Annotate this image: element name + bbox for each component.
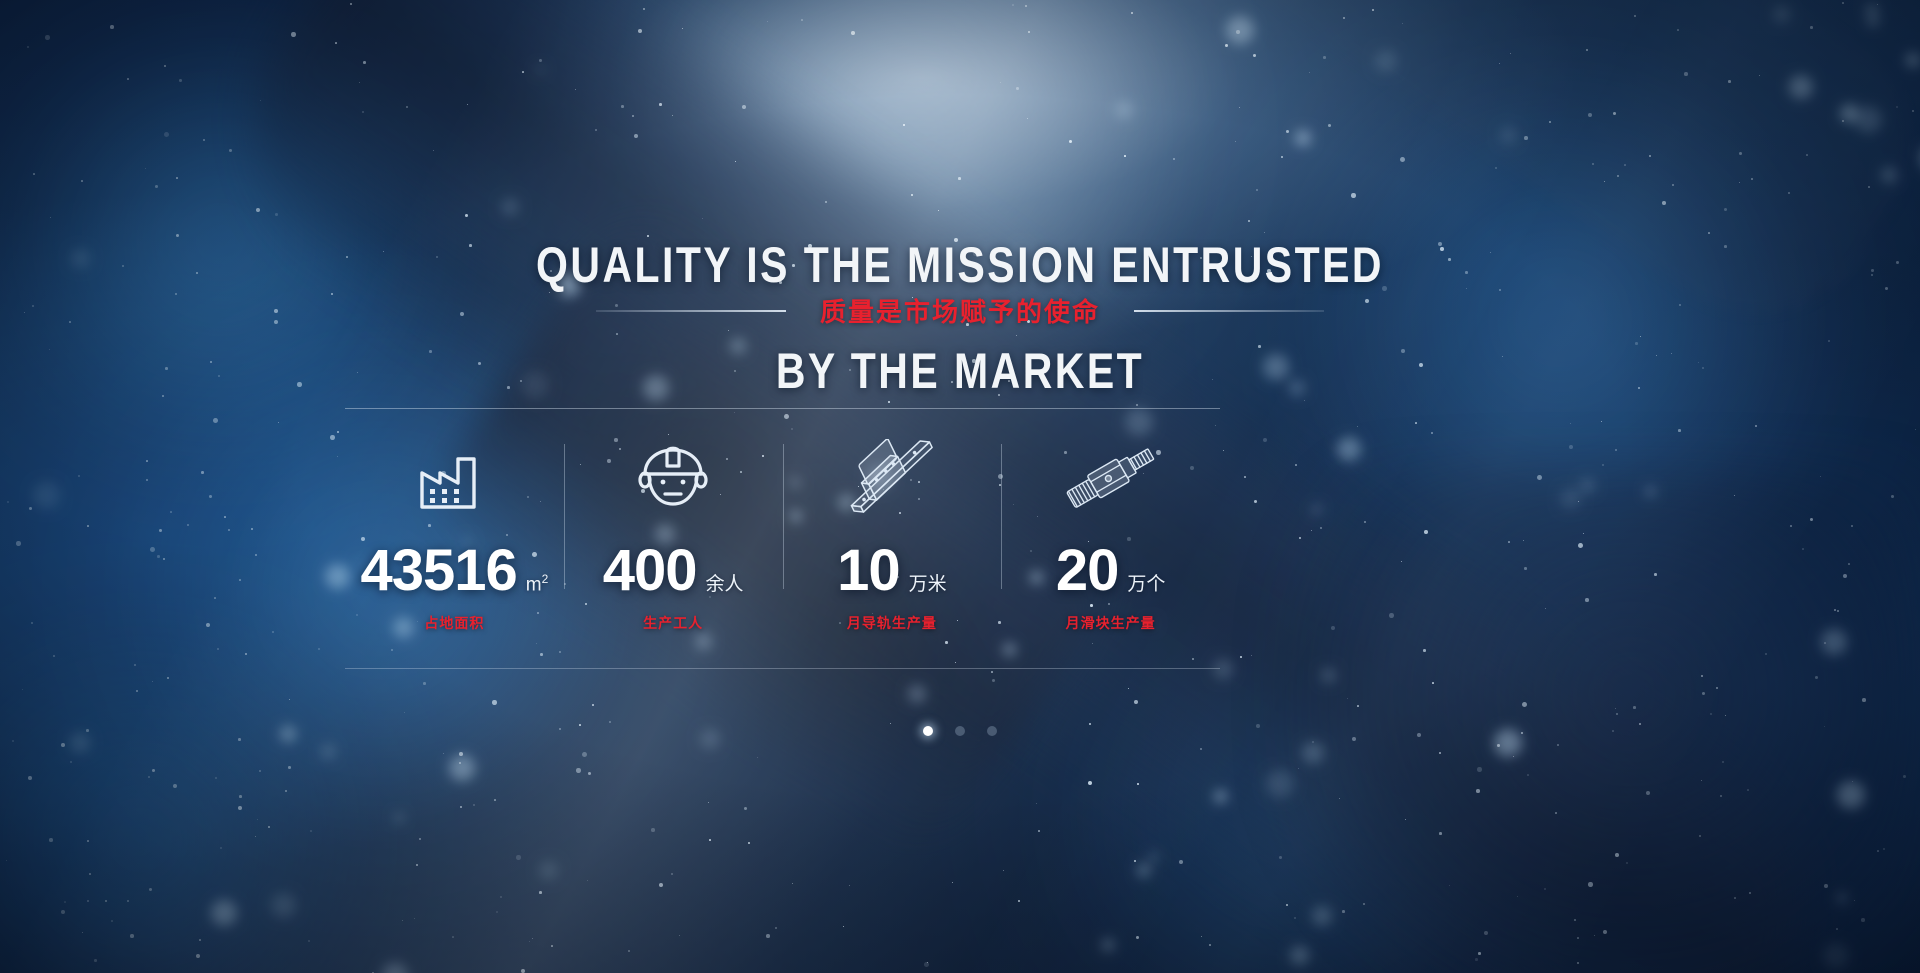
- subtitle-rule-right: [1134, 310, 1324, 312]
- worker-helmet-icon: [637, 438, 709, 516]
- stat-value: 400: [603, 542, 697, 600]
- headline-line-2: BY THE MARKET: [173, 345, 1747, 398]
- subtitle-row: 质量是市场赋予的使命: [0, 292, 1920, 329]
- stat-label: 生产工人: [643, 613, 703, 633]
- stats-row: 43516 m2 占地面积 400: [345, 430, 1220, 660]
- stat-value-group: 10 万米: [837, 542, 947, 600]
- stat-label: 月导轨生产量: [847, 613, 937, 633]
- stat-item-workers: 400 余人 生产工人: [564, 430, 783, 660]
- stat-value-group: 20 万个: [1056, 542, 1166, 600]
- stat-value: 10: [837, 542, 900, 600]
- stat-unit: m2: [526, 572, 549, 596]
- stat-item-guide-rail: 10 万米 月导轨生产量: [783, 430, 1002, 660]
- ball-screw-slider-icon: [1057, 438, 1165, 516]
- stat-value: 43516: [360, 542, 516, 600]
- subtitle-text: 质量是市场赋予的使命: [820, 292, 1100, 329]
- stats-divider-bottom: [345, 668, 1220, 669]
- stat-item-slider-block: 20 万个 月滑块生产量: [1001, 430, 1220, 660]
- carousel-dot-1[interactable]: [923, 726, 933, 736]
- stat-item-floor-area: 43516 m2 占地面积: [345, 430, 564, 660]
- stat-unit: 万个: [1127, 569, 1165, 596]
- stats-divider-top: [345, 408, 1220, 409]
- stat-unit: 余人: [706, 569, 744, 596]
- linear-guide-rail-icon: [837, 438, 947, 516]
- stat-value-group: 43516 m2: [360, 542, 548, 600]
- carousel-dot-3[interactable]: [987, 726, 997, 736]
- stat-value: 20: [1056, 542, 1119, 600]
- stat-label: 占地面积: [424, 613, 484, 633]
- carousel-pagination[interactable]: [0, 726, 1920, 736]
- stat-value-group: 400 余人: [603, 542, 744, 600]
- carousel-dot-2[interactable]: [955, 726, 965, 736]
- stat-unit: 万米: [909, 569, 947, 596]
- stat-label: 月滑块生产量: [1066, 613, 1156, 633]
- factory-icon: [416, 438, 492, 516]
- subtitle-rule-left: [596, 310, 786, 312]
- headline-line-1: QUALITY IS THE MISSION ENTRUSTED: [173, 239, 1747, 292]
